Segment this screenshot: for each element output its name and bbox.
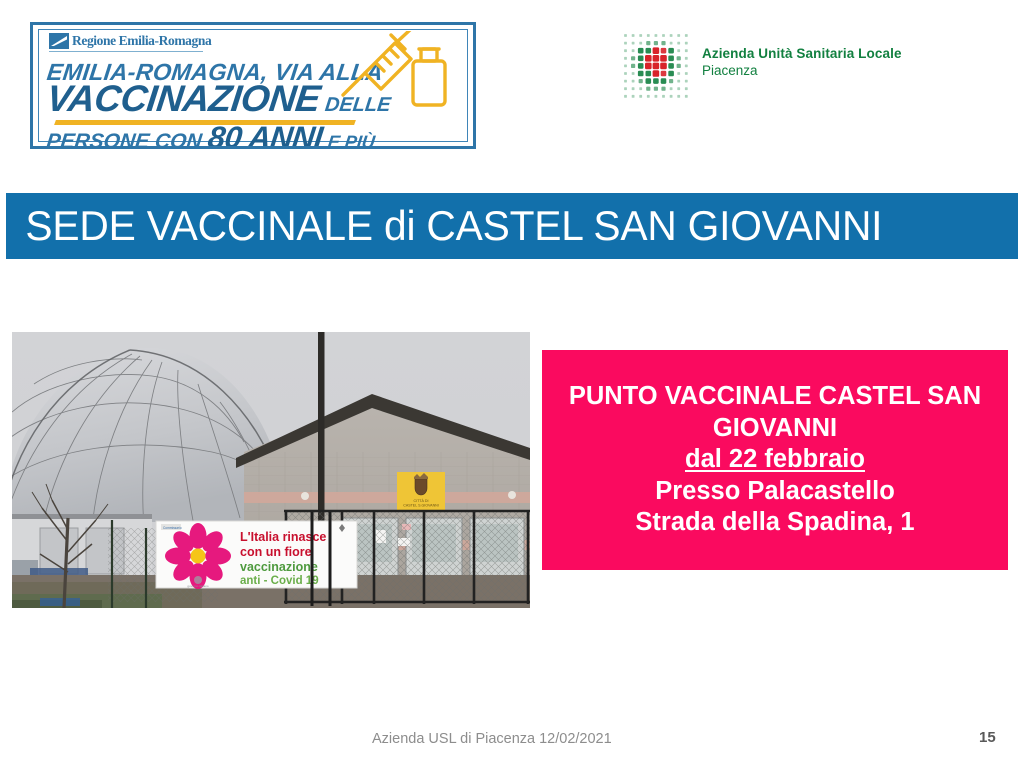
castel-san-giovanni-site-photo: CITTÀ DI CASTEL S.GIOVANNI xyxy=(12,332,530,608)
info-box-line-3: Presso Palacastello xyxy=(655,476,895,508)
slide-title-banner: SEDE VACCINALE di CASTEL SAN GIOVANNI xyxy=(6,193,1018,259)
ausl-logo-text: Azienda Unità Sanitaria Locale Piacenza xyxy=(702,46,902,80)
regione-emilia-romagna-wordmark: Regione Emilia-Romagna xyxy=(72,34,211,48)
campaign-line-3-part3: E PIÙ xyxy=(327,133,376,149)
svg-text:anti - Covid 19: anti - Covid 19 xyxy=(240,575,319,587)
campaign-banner: Regione Emilia-Romagna EMILIA-ROMAGNA, V… xyxy=(30,22,476,149)
regione-logo-rule xyxy=(49,51,203,52)
campaign-line-3-part1: PERSONE CON xyxy=(45,131,203,149)
dot-matrix-icon xyxy=(618,28,688,98)
footer-text: Azienda USL di Piacenza 12/02/2021 xyxy=(372,731,612,747)
svg-text:vaccinazione: vaccinazione xyxy=(240,560,318,574)
ausl-logo-line-2: Piacenza xyxy=(702,63,902,80)
svg-text:Commissario: Commissario xyxy=(163,526,182,530)
campaign-line-3-part2: 80 ANNI xyxy=(206,122,324,149)
page-title: SEDE VACCINALE di CASTEL SAN GIOVANNI xyxy=(6,202,882,250)
info-box-line-2: dal 22 febbraio xyxy=(685,444,865,476)
campaign-line-2-big: VACCINAZIONE xyxy=(45,80,322,117)
campaign-line-3: PERSONE CON 80 ANNI E PIÙ xyxy=(45,122,377,149)
syringe-and-vial-icon xyxy=(335,31,455,123)
svg-text:CASTEL S.GIOVANNI: CASTEL S.GIOVANNI xyxy=(403,504,439,508)
info-box-line-1: PUNTO VACCINALE CASTEL SAN GIOVANNI xyxy=(552,381,998,444)
ausl-logo-line-1: Azienda Unità Sanitaria Locale xyxy=(702,46,902,63)
svg-text:con un fiore: con un fiore xyxy=(240,545,312,559)
regione-emilia-romagna-logo: Regione Emilia-Romagna xyxy=(49,33,211,49)
regione-emilia-romagna-mark-icon xyxy=(49,33,69,49)
svg-text:governo italiano: governo italiano xyxy=(187,584,209,588)
vaccination-point-info-box: PUNTO VACCINALE CASTEL SAN GIOVANNIdal 2… xyxy=(542,350,1008,570)
svg-text:CITTÀ DI: CITTÀ DI xyxy=(414,499,429,503)
page-number: 15 xyxy=(979,729,996,746)
info-box-line-4: Strada della Spadina, 1 xyxy=(635,507,914,539)
ausl-piacenza-logo: Azienda Unità Sanitaria Locale Piacenza xyxy=(618,28,902,98)
